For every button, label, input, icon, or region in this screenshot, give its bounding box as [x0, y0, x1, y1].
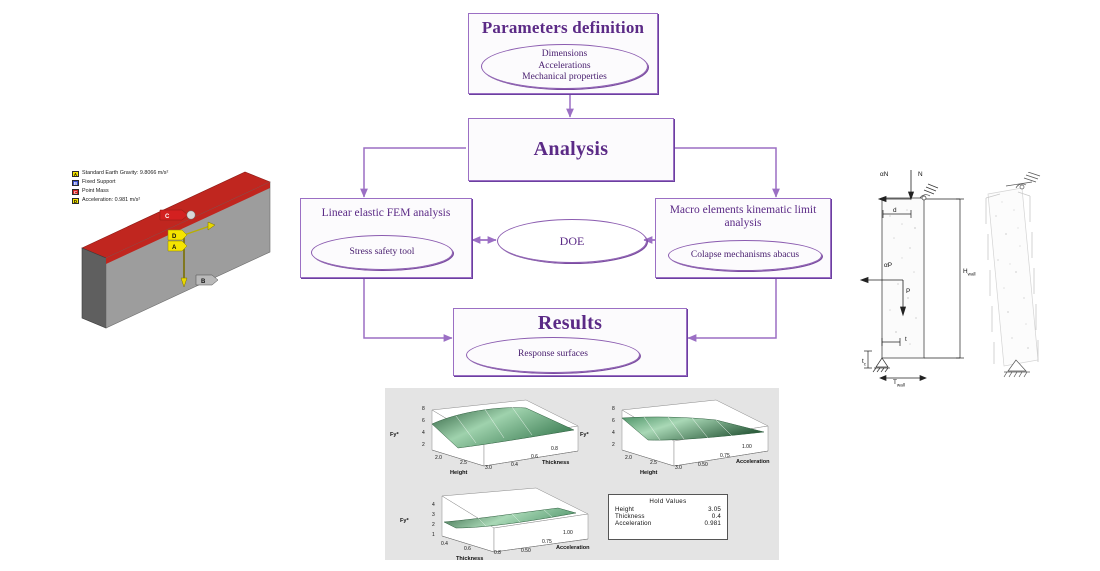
legend-key-d-icon: D [72, 198, 79, 204]
doe-ellipse[interactable]: DOE [497, 219, 647, 263]
point-mass-callout: C [160, 210, 195, 220]
hold-values-value: 0.981 [705, 520, 721, 527]
surface-plot-3-canvas [408, 486, 598, 566]
plot1-zaxis-label: Fy* [390, 432, 399, 438]
parameters-line-1: Dimensions [542, 49, 587, 59]
plot3-ytick: 0.75 [542, 539, 552, 545]
hold-values-value: 0.4 [712, 513, 721, 520]
plot3-zaxis-label: Fy* [400, 518, 409, 524]
surface-plot-thickness-acceleration: Fy* 4 3 2 1 0.4 0.6 0.8 Thickness 0.50 0… [408, 486, 598, 566]
hold-values-name: Height [615, 506, 634, 513]
svg-text:D: D [172, 234, 177, 240]
plot1-ytick: 0.4 [511, 462, 518, 468]
fem-legend: A Standard Earth Gravity: 9.8066 m/s² B … [72, 169, 168, 205]
hold-values-value: 3.05 [708, 506, 721, 513]
plot2-ztick: 2 [612, 442, 615, 448]
fem-ellipse: Stress safety tool [311, 235, 453, 270]
parameters-ellipse-text: Dimensions Accelerations Mechanical prop… [522, 49, 607, 84]
plot1-xtick: 3.0 [485, 465, 492, 471]
plot2-zaxis-label: Fy* [580, 432, 589, 438]
plot3-xaxis-label: Thickness [456, 556, 483, 562]
hold-values-row: Thickness 0.4 [615, 513, 721, 520]
svg-text:A: A [172, 245, 177, 251]
plot2-xtick: 2.5 [650, 460, 657, 466]
plot3-xtick: 0.4 [441, 541, 448, 547]
macro-title: Macro elements kinematic limit analysis [663, 204, 823, 230]
collapse-mechanism-diagram [960, 172, 1075, 387]
results-ellipse-text: Response surfaces [518, 349, 588, 361]
fem-title: Linear elastic FEM analysis [322, 207, 451, 220]
plot1-yaxis-label: Thickness [542, 460, 569, 466]
legend-label-a: Standard Earth Gravity: 9.8066 m/s² [82, 169, 168, 178]
plot1-xtick: 2.5 [460, 460, 467, 466]
hold-values-title: Hold Values [615, 498, 721, 505]
label-d: d [893, 207, 897, 214]
label-t: t [905, 336, 907, 343]
plot1-ztick: 8 [422, 406, 425, 412]
parameters-title: Parameters definition [482, 18, 644, 37]
legend-key-c-icon: C [72, 189, 79, 195]
legend-label-c: Point Mass [82, 187, 109, 196]
legend-row: C Point Mass [72, 187, 168, 196]
svg-text:C: C [165, 214, 170, 220]
hold-values-box: Hold Values Height 3.05 Thickness 0.4 Ac… [608, 494, 728, 540]
plot3-ztick: 1 [432, 532, 435, 538]
top-hinge-icon [1006, 172, 1040, 189]
plot3-ztick: 2 [432, 522, 435, 528]
plot1-xtick: 2.0 [435, 455, 442, 461]
plot2-yaxis-label: Acceleration [736, 459, 770, 465]
label-alpha-n: αN [880, 171, 888, 178]
plot2-ytick: 0.50 [698, 462, 708, 468]
tilted-wall-body [988, 188, 1038, 366]
label-t-wall-sub: wall [897, 382, 905, 387]
load-N-arrow [909, 170, 914, 199]
macro-ellipse: Colapse mechanisms abacus [668, 240, 822, 271]
dimension-hwall [924, 199, 964, 358]
parameters-line-3: Mechanical properties [522, 72, 607, 82]
wall-left-face [82, 248, 106, 328]
legend-key-a-icon: A [72, 171, 79, 177]
label-alpha-p: αP [884, 262, 892, 269]
doe-label: DOE [560, 234, 585, 249]
plot2-ytick: 1.00 [742, 444, 752, 450]
plot3-xtick: 0.6 [464, 546, 471, 552]
plot1-ztick: 2 [422, 442, 425, 448]
plot1-ytick: 0.8 [551, 446, 558, 452]
legend-row: A Standard Earth Gravity: 9.8066 m/s² [72, 169, 168, 178]
legend-key-b-icon: B [72, 180, 79, 186]
plot3-xtick: 0.8 [494, 550, 501, 556]
results-title: Results [538, 312, 602, 334]
base-support-icon [873, 358, 890, 372]
legend-label-b: Fixed Support [82, 178, 116, 187]
figure-canvas: Parameters definition Dimensions Acceler… [0, 0, 1100, 560]
legend-row: B Fixed Support [72, 178, 168, 187]
legend-row: D Acceleration: 0.981 m/s² [72, 196, 168, 205]
analysis-title: Analysis [534, 138, 609, 160]
hold-values-name: Acceleration [615, 520, 651, 527]
label-p: P [906, 288, 910, 295]
label-n: N [918, 171, 923, 178]
label-t-wall: Twall [893, 379, 905, 387]
plot3-ytick: 0.50 [521, 548, 531, 554]
plot1-ytick: 0.6 [531, 454, 538, 460]
hold-values-row: Height 3.05 [615, 506, 721, 513]
plot2-ztick: 6 [612, 418, 615, 424]
plot2-xtick: 3.0 [675, 465, 682, 471]
plot1-xaxis-label: Height [450, 470, 467, 476]
plot2-ytick: 0.75 [720, 453, 730, 459]
parameters-line-2: Accelerations [538, 61, 590, 71]
legend-label-d: Acceleration: 0.981 m/s² [82, 196, 140, 205]
plot3-ztick: 4 [432, 502, 435, 508]
plot2-ztick: 8 [612, 406, 615, 412]
plot1-ztick: 4 [422, 430, 425, 436]
parameters-ellipse: Dimensions Accelerations Mechanical prop… [481, 44, 648, 89]
surface-plot-height-acceleration: Fy* 8 6 4 2 2.0 2.5 3.0 Height 0.50 0.75… [588, 396, 778, 476]
fem-ellipse-text: Stress safety tool [350, 247, 415, 259]
label-tc: tc [862, 358, 866, 366]
hold-values-row: Acceleration 0.981 [615, 520, 721, 527]
hold-values-name: Thickness [615, 513, 645, 520]
results-ellipse: Response surfaces [466, 337, 640, 373]
plot2-xtick: 2.0 [625, 455, 632, 461]
label-tc-sub: c [864, 361, 866, 366]
plot1-ztick: 6 [422, 418, 425, 424]
plot3-ytick: 1.00 [563, 530, 573, 536]
wall-body [882, 198, 924, 358]
plot2-xaxis-label: Height [640, 470, 657, 476]
svg-text:B: B [201, 279, 206, 285]
surface-plot-height-thickness: Fy* 8 6 4 2 2.0 2.5 3.0 Height 0.4 0.6 0… [398, 396, 588, 476]
box-analysis[interactable]: Analysis [468, 118, 674, 181]
plot3-yaxis-label: Acceleration [556, 545, 590, 551]
macro-ellipse-text: Colapse mechanisms abacus [691, 250, 799, 262]
top-support-icon [920, 184, 938, 200]
plot3-ztick: 3 [432, 512, 435, 518]
plot2-ztick: 4 [612, 430, 615, 436]
